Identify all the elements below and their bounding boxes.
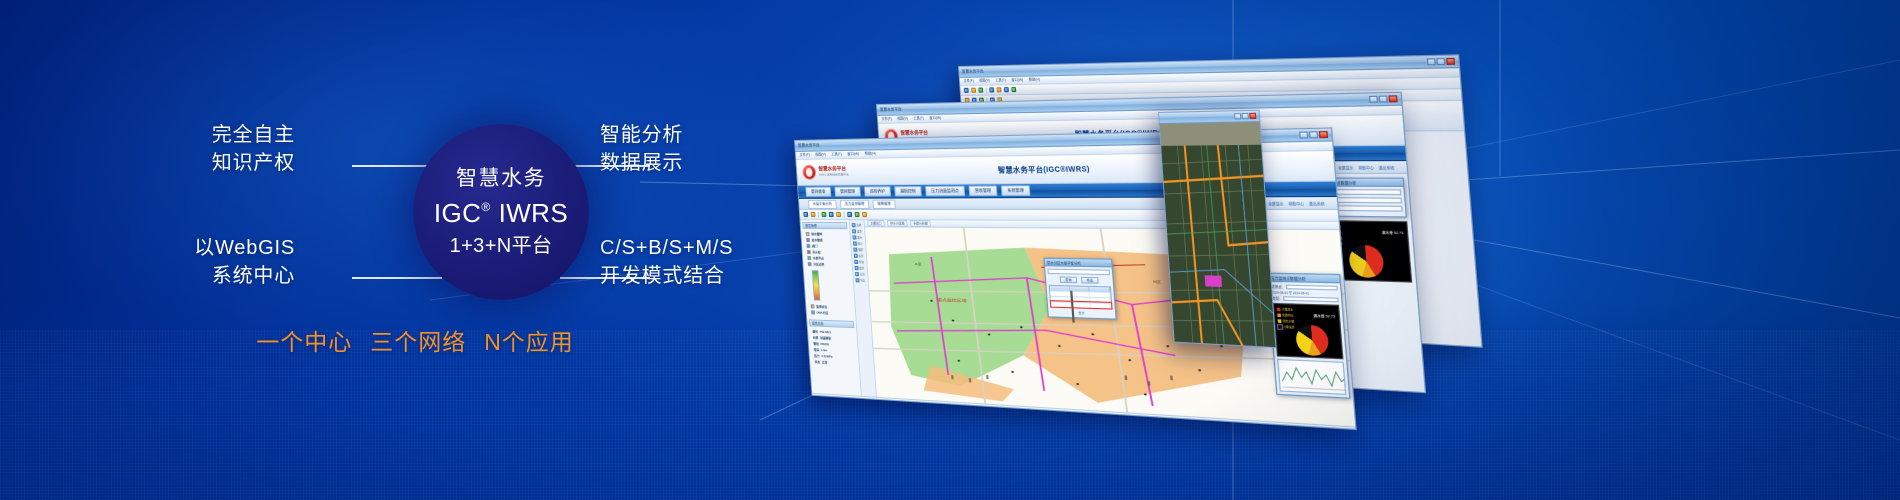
selected-parcel-highlight xyxy=(1205,275,1222,287)
product-igc: IGC xyxy=(434,200,481,226)
center-title: 智慧水务 xyxy=(456,168,546,189)
center-badge: 智慧水务 IGC®IWRS 1+3+N平台 xyxy=(413,124,589,300)
connector-bottom-right xyxy=(560,277,650,279)
connector-bottom-left xyxy=(352,277,442,279)
roadmap-canvas[interactable] xyxy=(1160,122,1276,348)
vignette-overlay xyxy=(0,0,1900,500)
banner-root: 智慧水务 IGC®IWRS 1+3+N平台 完全自主 知识产权 以WebGIS … xyxy=(0,0,1900,500)
roadmap-svg xyxy=(1160,122,1277,348)
registered-mark: ® xyxy=(481,201,490,213)
close-icon[interactable] xyxy=(1249,113,1256,119)
maximize-icon[interactable] xyxy=(1242,113,1249,119)
window-buttons-roadmap[interactable] xyxy=(1234,113,1256,120)
product-iwrs: IWRS xyxy=(499,200,568,226)
center-platform: 1+3+N平台 xyxy=(450,236,553,256)
app-window-roadmap[interactable] xyxy=(1158,110,1276,349)
minimize-icon[interactable] xyxy=(1234,113,1241,119)
center-product: IGC®IWRS xyxy=(434,200,568,226)
